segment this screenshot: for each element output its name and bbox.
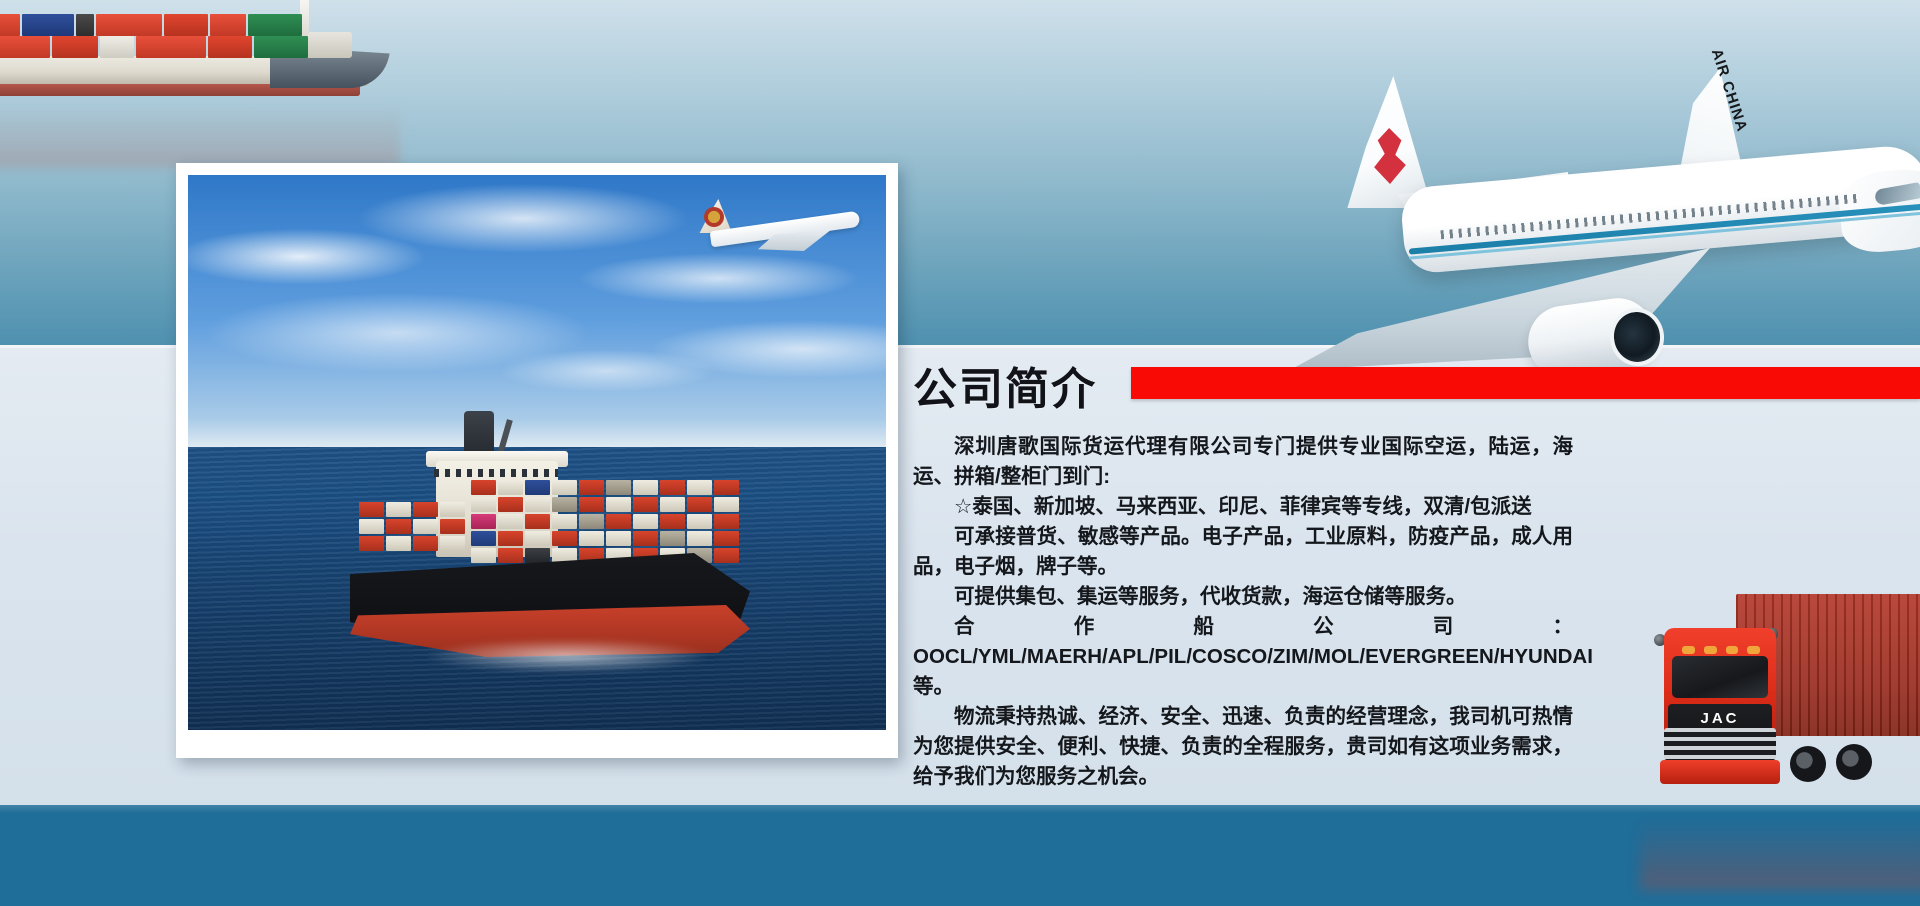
framed-photo-image [188,175,886,730]
company-profile-banner: AIR CHINA [0,0,1920,906]
about-paragraph: 可提供集包、集运等服务，代收货款，海运仓储等服务。 [913,582,1573,612]
about-section: 公司简介 深圳唐歌国际货运代理有限公司专门提供专业国际空运，陆运，海运、拼箱/整… [913,352,1573,792]
top-banner-container-ship-icon [0,0,400,114]
photo-airplane-icon [688,197,878,257]
about-paragraph: 物流秉持热诚、经济、安全、迅速、负责的经营理念，我司机可热情为您提供安全、便利、… [913,702,1573,792]
about-body-text: 深圳唐歌国际货运代理有限公司专门提供专业国际空运，陆运，海运、拼箱/整柜门到门:… [913,432,1573,792]
truck-roof-lamps [1682,646,1760,654]
jac-truck-graphic: JAC [1640,588,1920,826]
truck-rear-wheel [1836,744,1872,780]
about-paragraph: ☆泰国、新加坡、马来西亚、印尼、菲律宾等专线，双清/包派送 [913,492,1573,522]
about-paragraph: 合作船公司：OOCL/YML/MAERH/APL/PIL/COSCO/ZIM/M… [913,612,1573,702]
about-header: 公司简介 [913,352,1573,418]
truck-reflection [1640,820,1920,890]
truck-grille-bars [1664,728,1776,760]
about-paragraph: 可承接普货、敏感等产品。电子产品，工业原料，防疫产品，成人用品，电子烟，牌子等。 [913,522,1573,582]
truck-brand-label: JAC [1676,710,1764,727]
air-china-airplane-graphic: AIR CHINA [1140,20,1920,350]
about-paragraph: 深圳唐歌国际货运代理有限公司专门提供专业国际空运，陆运，海运、拼箱/整柜门到门: [913,432,1573,492]
truck-bumper [1660,760,1780,784]
truck-windshield [1672,656,1768,698]
footer-sheen [0,805,1920,813]
truck-mid-wheel [1790,746,1826,782]
photo-container-ship [340,353,760,683]
footer-background-band [0,805,1920,906]
page-title: 公司简介 [913,353,1097,417]
framed-photo [176,163,898,758]
